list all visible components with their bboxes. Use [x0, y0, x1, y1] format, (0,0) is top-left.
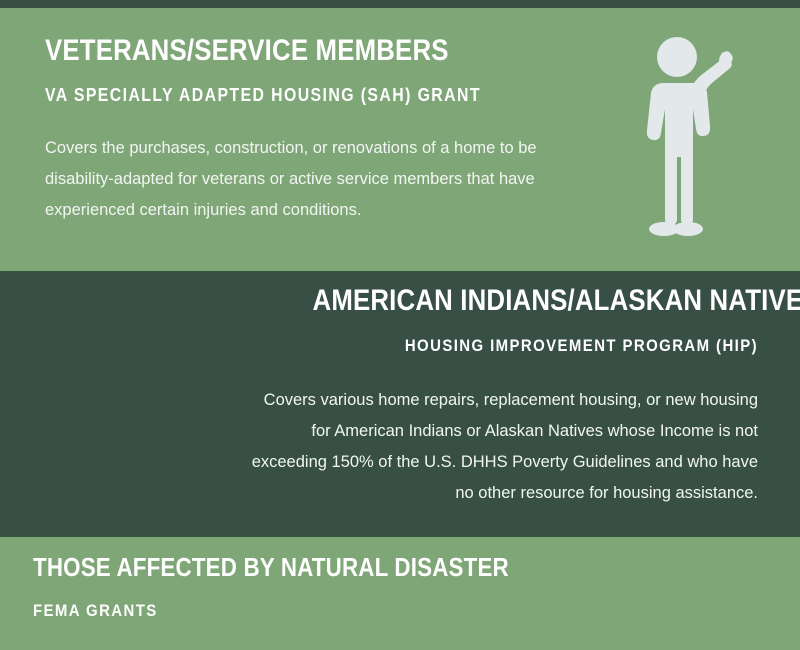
veterans-headline: VETERANS/SERVICE MEMBERS	[45, 35, 501, 67]
disaster-subhead: FEMA GRANTS	[33, 602, 508, 621]
natives-subhead: HOUSING IMPROVEMENT PROGRAM (HIP)	[302, 337, 758, 356]
disaster-text-block: THOSE AFFECTED BY NATURAL DISASTER FEMA …	[33, 554, 573, 620]
veterans-body-copy: Covers the purchases, construction, or r…	[45, 133, 558, 226]
natives-text-block: AMERICAN INDIANS/ALASKAN NATIVES HOUSING…	[240, 285, 758, 509]
veterans-subhead: VA SPECIALLY ADAPTED HOUSING (SAH) GRANT	[45, 86, 511, 106]
section-american-indians-alaskan-natives: AMERICAN INDIANS/ALASKAN NATIVES HOUSING…	[0, 271, 800, 537]
section-veterans: VETERANS/SERVICE MEMBERS VA SPECIALLY AD…	[0, 8, 800, 271]
top-divider-rule	[0, 0, 800, 8]
natives-headline: AMERICAN INDIANS/ALASKAN NATIVES	[313, 285, 758, 317]
disaster-headline: THOSE AFFECTED BY NATURAL DISASTER	[33, 554, 497, 582]
housing-grants-infographic: VETERANS/SERVICE MEMBERS VA SPECIALLY AD…	[0, 0, 800, 650]
veterans-text-block: VETERANS/SERVICE MEMBERS VA SPECIALLY AD…	[45, 35, 575, 226]
saluting-person-icon	[636, 31, 746, 236]
natives-body-copy: Covers various home repairs, replacement…	[240, 385, 758, 509]
section-natural-disaster: THOSE AFFECTED BY NATURAL DISASTER FEMA …	[0, 537, 800, 650]
